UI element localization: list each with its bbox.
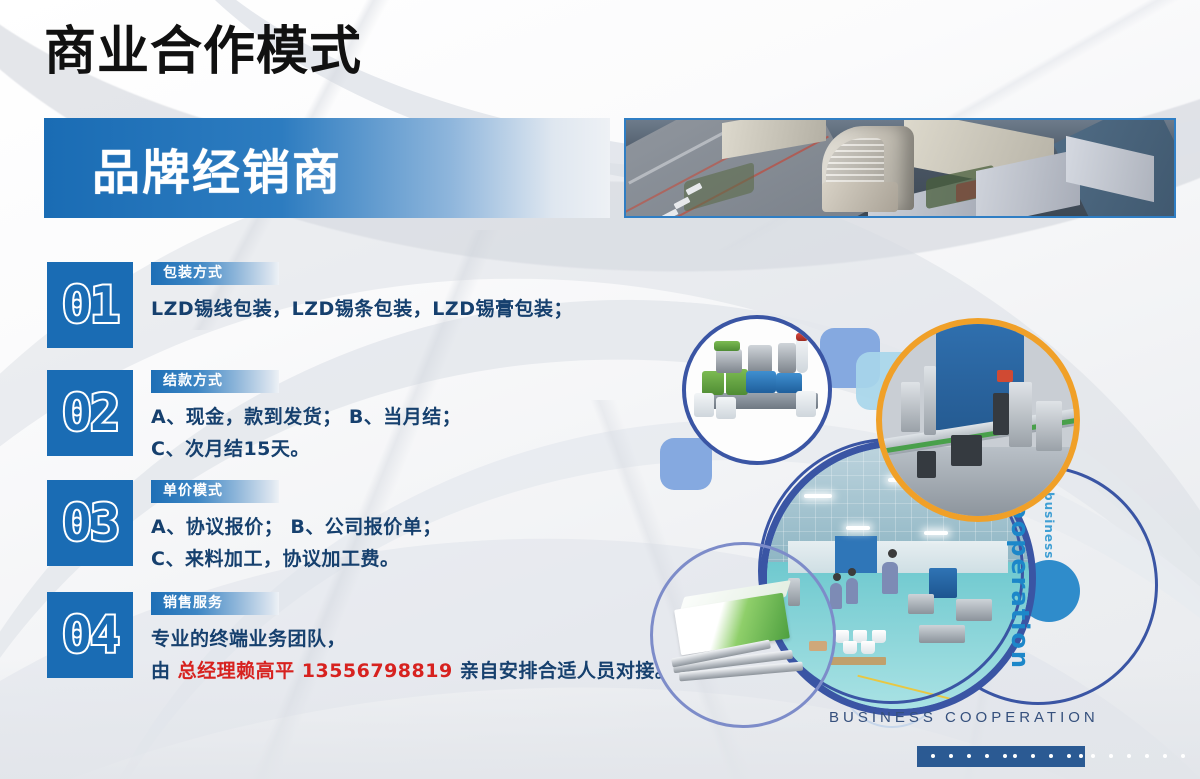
item-number: 04 bbox=[62, 610, 118, 660]
photo-podium bbox=[822, 182, 898, 212]
item-number-badge: 04 bbox=[47, 592, 133, 678]
machine-part bbox=[901, 382, 920, 432]
machine-part-dark bbox=[993, 393, 1008, 435]
product-can bbox=[746, 371, 776, 393]
item-number: 02 bbox=[62, 388, 118, 438]
circle-machine-image bbox=[876, 318, 1080, 522]
item-number: 03 bbox=[62, 498, 118, 548]
hero-photo bbox=[624, 118, 1176, 218]
machine-part bbox=[1036, 401, 1063, 451]
product-can bbox=[748, 345, 772, 373]
product-can bbox=[716, 349, 742, 373]
product-can bbox=[702, 371, 724, 395]
item-number-badge: 02 bbox=[47, 370, 133, 456]
product-cap bbox=[796, 333, 808, 341]
contact-gap bbox=[295, 660, 302, 682]
banner-title: 品牌经销商 bbox=[92, 133, 342, 203]
item-tab-label: 结款方式 bbox=[151, 370, 279, 393]
circle-products-image bbox=[682, 315, 832, 465]
item-number-badge: 03 bbox=[47, 480, 133, 566]
item-tab-label: 包装方式 bbox=[151, 262, 279, 285]
product-can bbox=[714, 341, 740, 351]
contact-prefix: 由 bbox=[151, 660, 178, 682]
product-bottle bbox=[796, 337, 808, 373]
contact-name: 总经理赖高平 bbox=[178, 660, 295, 682]
page-title: 商业合作模式 bbox=[44, 26, 362, 78]
banner-bar: 品牌经销商 bbox=[44, 118, 610, 218]
footer-caption: BUSINESS COOPERATION bbox=[829, 709, 1099, 726]
graphic-composition bbox=[620, 290, 1200, 720]
item-tab-label: 单价模式 bbox=[151, 480, 279, 503]
contact-phone: 13556798819 bbox=[302, 660, 453, 682]
decorative-square bbox=[660, 438, 712, 490]
machine-part-dark bbox=[951, 435, 982, 466]
machine-part bbox=[1009, 382, 1032, 447]
item-tab-label: 销售服务 bbox=[151, 592, 279, 615]
machine-part-dark bbox=[917, 451, 936, 478]
product-can bbox=[776, 373, 802, 393]
product-can bbox=[778, 343, 796, 373]
machine-indicator bbox=[997, 370, 1012, 382]
product-jar bbox=[694, 393, 714, 417]
circle-box-image bbox=[650, 542, 836, 728]
footer-dot-bar bbox=[917, 746, 1085, 767]
machine-part bbox=[924, 366, 936, 435]
product-jar bbox=[716, 397, 736, 419]
footer-dot-row-tail bbox=[1091, 754, 1197, 759]
product-jar bbox=[796, 391, 816, 417]
item-number-badge: 01 bbox=[47, 262, 133, 348]
item-number: 01 bbox=[62, 280, 118, 330]
poster-canvas: 商业合作模式 品牌经销商 01 包装方式 LZD锡线包装，LZD锡条包装 bbox=[0, 0, 1200, 779]
